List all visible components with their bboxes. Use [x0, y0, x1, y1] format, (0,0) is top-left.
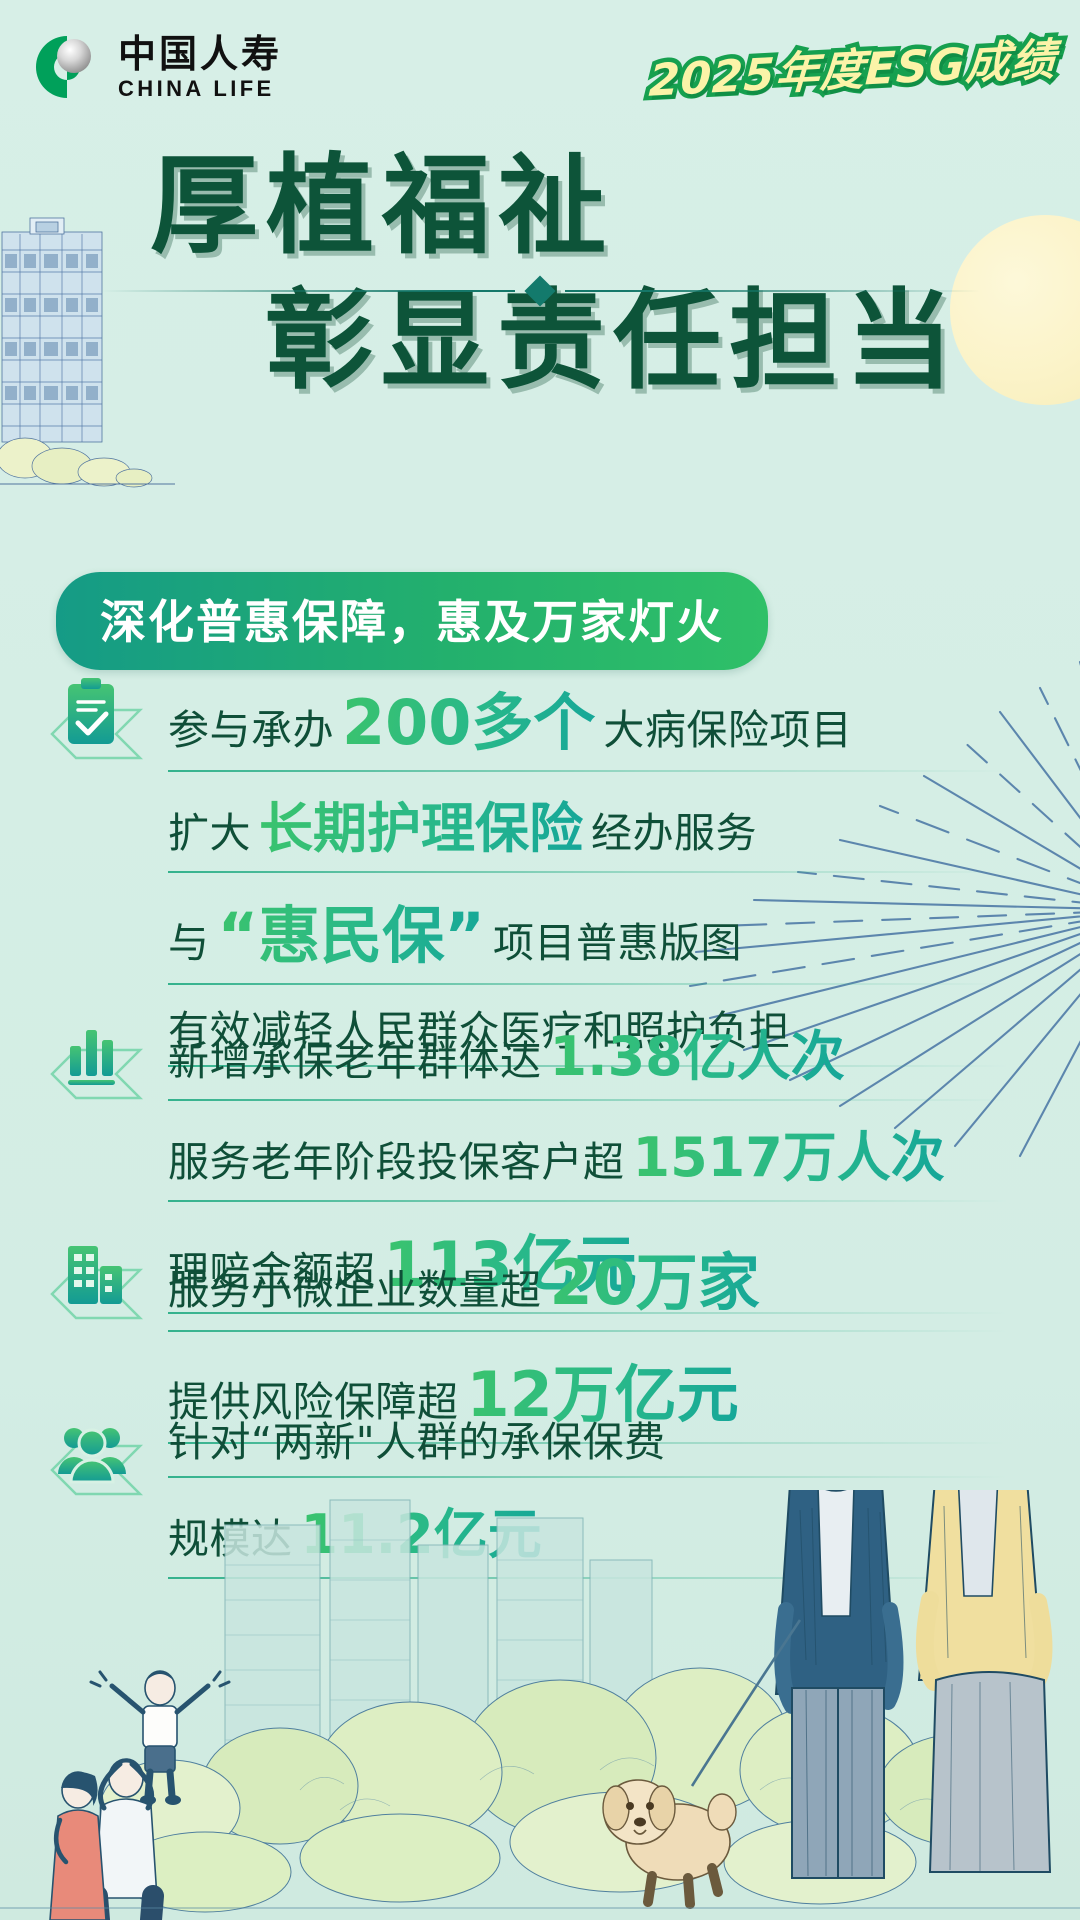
stat-text: 经办服务	[591, 799, 757, 859]
family-and-elderly-couple-park-illustration	[0, 1490, 1080, 1920]
stat-line: 扩大长期护理保险经办服务	[168, 784, 1008, 873]
stat-text: 大病保险项目	[603, 696, 852, 756]
stat-line: 针对“两新"人群的承保保费	[168, 1408, 1008, 1478]
building-icon	[48, 1236, 144, 1346]
stat-line: 参与承办200多个大病保险项目	[168, 672, 1008, 772]
section-pill-banner: 深化普惠保障，惠及万家灯火	[56, 572, 768, 670]
divider-left-rule	[100, 290, 515, 292]
bar-chart-icon	[48, 1016, 144, 1126]
title-line-1: 厚植福祉	[150, 150, 1080, 263]
stat-highlight-value: 长期护理保险	[251, 784, 591, 863]
logo-chinese-name: 中国人寿	[118, 35, 282, 73]
china-life-brand-lockup: 中国人寿 CHINA LIFE	[30, 30, 282, 104]
stat-highlight-value: 1.38亿人次	[542, 1012, 853, 1091]
poster-canvas: 中国人寿 CHINA LIFE 2025年度ESG成绩 厚植福祉 彰显责任担当 …	[0, 0, 1080, 1920]
stat-line: 新增承保老年群体达1.38亿人次	[168, 1012, 1008, 1101]
stat-text: 参与承办	[168, 696, 334, 756]
stat-highlight-value: 200多个	[334, 672, 603, 762]
title-divider	[100, 283, 980, 299]
clipboard-check-icon	[48, 676, 144, 786]
stat-line: 服务小微企业数量超20万家	[168, 1232, 1008, 1332]
stat-line: 服务老年阶段投保客户超1517万人次	[168, 1113, 1008, 1202]
stat-line: 与“惠民保”项目普惠版图	[168, 885, 1008, 985]
poster-header: 中国人寿 CHINA LIFE 2025年度ESG成绩	[0, 26, 1080, 116]
stat-block-1-lines: 参与承办200多个大病保险项目扩大长期护理保险经办服务与“惠民保”项目普惠版图有…	[168, 672, 1008, 1067]
title-line-2: 彰显责任担当	[265, 285, 1080, 398]
logo-english-name: CHINA LIFE	[118, 78, 282, 100]
stat-text: 与	[168, 909, 210, 969]
stat-text: 针对“两新"人群的承保保费	[168, 1408, 666, 1468]
main-title: 厚植福祉 彰显责任担当	[0, 150, 1080, 399]
china-life-logo-icon	[30, 30, 104, 104]
stat-text: 新增承保老年群体达	[168, 1027, 542, 1087]
stat-text: 扩大	[168, 799, 251, 859]
divider-right-rule	[565, 290, 980, 292]
stat-highlight-value: 20万家	[542, 1232, 768, 1322]
esg-year-badge: 2025年度ESG成绩	[647, 23, 1057, 109]
stat-text: 服务老年阶段投保客户超	[168, 1128, 625, 1188]
stat-highlight-value: “惠民保”	[210, 885, 494, 975]
stat-text: 服务小微企业数量超	[168, 1256, 542, 1316]
stat-text: 项目普惠版图	[493, 909, 742, 969]
stat-highlight-value: 1517万人次	[625, 1113, 953, 1192]
